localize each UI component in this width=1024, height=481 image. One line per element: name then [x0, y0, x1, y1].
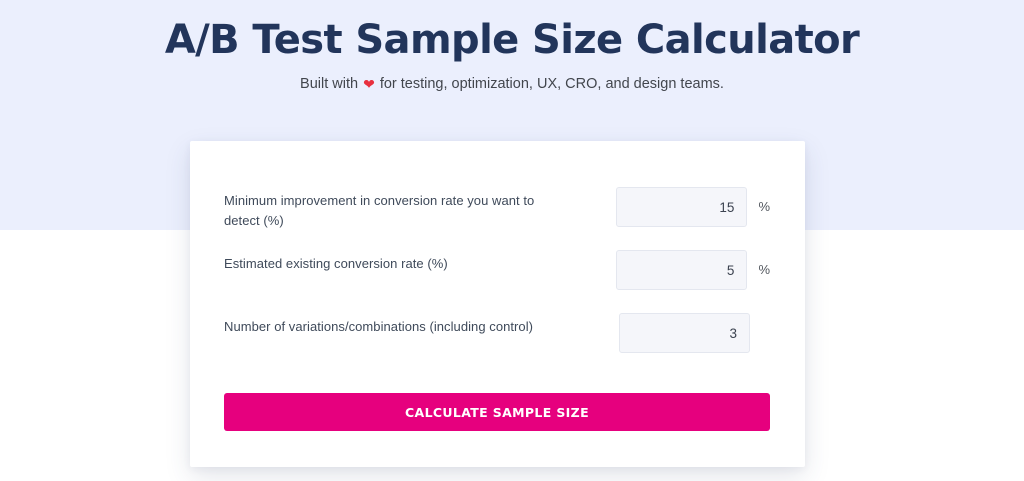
calculate-sample-size-button[interactable]: Calculate Sample Size	[224, 393, 770, 431]
existing-conversion-rate-unit: %	[758, 250, 770, 290]
calculator-card: Minimum improvement in conversion rate y…	[190, 141, 805, 467]
label-minimum-improvement: Minimum improvement in conversion rate y…	[224, 187, 577, 231]
label-number-of-variations: Number of variations/combinations (inclu…	[224, 313, 604, 337]
heart-icon: ❤	[363, 74, 375, 94]
form-row-existing-conversion-rate: Estimated existing conversion rate (%) %	[224, 250, 770, 290]
number-of-variations-input[interactable]	[619, 313, 750, 353]
calculator-form: Minimum improvement in conversion rate y…	[224, 141, 770, 467]
subtitle-text-after: for testing, optimization, UX, CRO, and …	[380, 76, 724, 92]
control-minimum-improvement: %	[616, 187, 770, 227]
subtitle-text-before: Built with	[300, 76, 358, 92]
control-existing-conversion-rate: %	[616, 250, 770, 290]
control-number-of-variations	[619, 313, 761, 353]
form-row-minimum-improvement: Minimum improvement in conversion rate y…	[224, 187, 770, 231]
label-existing-conversion-rate: Estimated existing conversion rate (%)	[224, 250, 601, 274]
calculator-page: A/B Test Sample Size Calculator Built wi…	[0, 0, 1024, 481]
minimum-improvement-unit: %	[758, 187, 770, 227]
page-title: A/B Test Sample Size Calculator	[0, 0, 1024, 67]
minimum-improvement-input[interactable]	[616, 187, 747, 227]
page-subtitle: Built with❤for testing, optimization, UX…	[0, 67, 1024, 94]
page-header: A/B Test Sample Size Calculator Built wi…	[0, 0, 1024, 94]
form-row-number-of-variations: Number of variations/combinations (inclu…	[224, 313, 770, 353]
existing-conversion-rate-input[interactable]	[616, 250, 747, 290]
